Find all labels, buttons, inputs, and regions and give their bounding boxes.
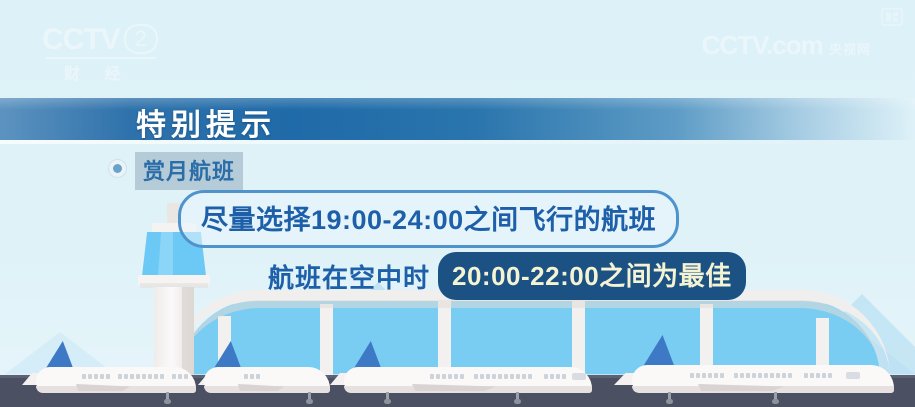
advice-line-primary: 尽量选择19:00-24:00之间飞行的航班: [178, 190, 679, 248]
airplane-wheel: [384, 399, 391, 404]
airplane-wheel: [514, 399, 521, 404]
subheading: 赏月航班: [135, 152, 243, 190]
airplane-windows: [118, 374, 164, 379]
airplane-right: [606, 339, 915, 393]
airplane-windows: [544, 374, 566, 379]
airplane-windows: [734, 373, 792, 378]
airplane-wheel: [306, 399, 313, 404]
airplane-windows: [82, 374, 110, 379]
watermark-cn: 央视网: [829, 42, 871, 57]
logo-rule: [46, 57, 156, 59]
cctv-channel-logo: CCTV2 财 经: [42, 24, 182, 76]
airplane-center: [308, 341, 638, 393]
airplane-windows: [172, 374, 188, 379]
picture-icon[interactable]: [881, 8, 903, 26]
channel-name: 财 经: [64, 60, 182, 84]
airplane-wheel: [772, 399, 779, 404]
airplane-windows: [804, 373, 832, 378]
bullet-dot-icon: [108, 159, 127, 178]
cctv-com-watermark: CCTV.com 央视网: [702, 30, 871, 61]
airplane-windows: [474, 374, 532, 379]
advice-prefix: 航班在空中时: [268, 258, 430, 295]
page-title: 特别提示: [136, 100, 276, 144]
advice-highlight-chip: 20:00-22:00之间为最佳: [438, 252, 746, 300]
advice-line-secondary: 航班在空中时 20:00-22:00之间为最佳: [268, 252, 746, 300]
airplane-left: [0, 343, 200, 393]
airplane-windows: [244, 374, 260, 379]
cctv-wordmark: CCTV: [42, 23, 120, 56]
airplane-door: [846, 372, 860, 379]
airplane-wheel: [164, 399, 171, 404]
airplane-windows: [430, 374, 464, 379]
channel-number: 2: [124, 24, 158, 54]
airplane-windows: [690, 373, 724, 378]
airplane-door: [572, 373, 586, 380]
airplane-wheel: [666, 399, 673, 404]
watermark-com: .com: [766, 30, 823, 60]
watermark-cctv: CCTV: [702, 30, 766, 60]
broadcast-frame: CCTV2 财 经 CCTV.com 央视网 特别提示 赏月航班 尽量选择19:…: [0, 0, 915, 407]
